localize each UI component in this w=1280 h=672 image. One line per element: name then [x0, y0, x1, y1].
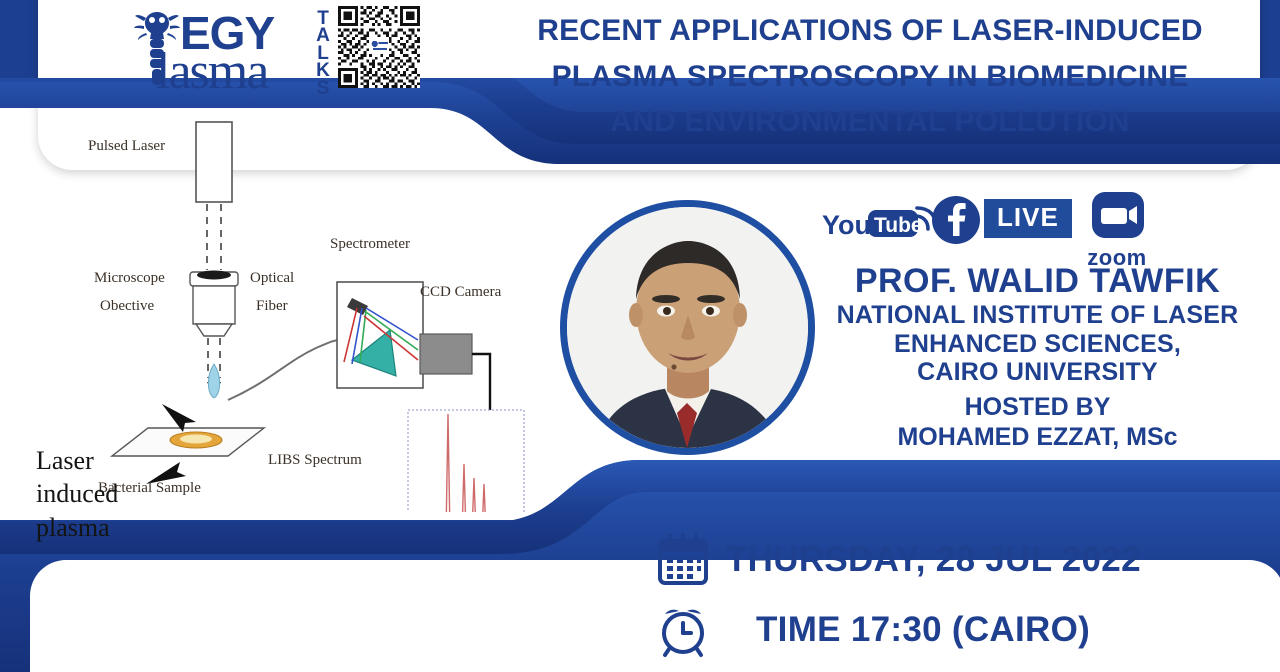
label-laser-induced-plasma: Laser induced plasma — [36, 444, 118, 544]
title-line-1: RECENT APPLICATIONS OF LASER-INDUCED — [470, 8, 1270, 54]
live-badge: LIVE — [984, 199, 1072, 238]
schedule-block: THURSDAY, 28 JUL 2022 TIME 17:30 (CAIRO) — [640, 525, 1280, 665]
youtube-logo: You Tube — [822, 202, 934, 254]
speaker-avatar — [560, 200, 815, 455]
label-libs-spectrum: LIBS Spectrum — [268, 452, 362, 469]
label-spectrometer: Spectrometer — [330, 236, 410, 253]
alarm-clock-icon — [640, 602, 726, 658]
schedule-time-row: TIME 17:30 (CAIRO) — [640, 595, 1280, 665]
hosted-by-label: HOSTED BY — [800, 393, 1275, 422]
calendar-glyph — [655, 532, 711, 588]
libs-setup-diagram: Pulsed Laser Microscope Obective Optical… — [0, 112, 540, 512]
svg-text:You: You — [822, 210, 871, 240]
label-ccd-camera: CCD Camera — [420, 284, 501, 301]
talks-letter: S — [317, 80, 330, 97]
label-optical-fiber-line2: Fiber — [256, 298, 288, 315]
plasma-line-3: plasma — [36, 511, 118, 544]
label-optical-fiber-line1: Optical — [250, 270, 294, 287]
title-line-2: PLASMA SPECTROSCOPY IN BIOMEDICINE — [470, 54, 1270, 100]
plasma-line-1: Laser — [36, 444, 118, 477]
webinar-poster: EGY lasma T A L K S — [0, 0, 1280, 672]
affiliation-line-3: CAIRO UNIVERSITY — [800, 358, 1275, 386]
host-name: MOHAMED EZZAT, MSc — [800, 422, 1275, 452]
broadcast-channels: You Tube LIVE zoom — [812, 190, 1172, 262]
schedule-date: THURSDAY, 28 JUL 2022 — [726, 540, 1141, 580]
zoom-logo — [1084, 190, 1150, 242]
brand-logo[interactable]: EGY lasma T A L K S — [132, 4, 332, 100]
speaker-name: PROF. WALID TAWFIK — [800, 262, 1275, 301]
label-microscope: Microscope — [94, 270, 165, 287]
page-title: RECENT APPLICATIONS OF LASER-INDUCED PLA… — [470, 8, 1270, 145]
facebook-icon[interactable] — [930, 194, 982, 251]
speaker-details: PROF. WALID TAWFIK NATIONAL INSTITUTE OF… — [800, 262, 1275, 452]
title-line-3: AND ENVIRONMENTAL POLLUTION — [470, 99, 1270, 145]
label-pulsed-laser: Pulsed Laser — [88, 138, 165, 155]
logo-talks-text: T A L K S — [310, 10, 336, 97]
plasma-line-2: induced — [36, 477, 118, 510]
alarm-clock-glyph — [655, 602, 711, 658]
affiliation-line-1: NATIONAL INSTITUTE OF LASER — [800, 301, 1275, 329]
schedule-date-row: THURSDAY, 28 JUL 2022 — [640, 525, 1280, 595]
speaker-photo — [567, 207, 808, 448]
affiliation-line-2: ENHANCED SCIENCES, — [800, 330, 1275, 358]
logo-plasma-text: lasma — [156, 42, 267, 101]
calendar-icon — [640, 532, 726, 588]
youtube-icon[interactable]: You Tube — [822, 202, 934, 259]
qr-code[interactable] — [338, 6, 420, 88]
facebook-logo — [930, 194, 982, 246]
schedule-time: TIME 17:30 (CAIRO) — [726, 610, 1090, 650]
label-objective: Obective — [100, 298, 154, 315]
zoom-icon[interactable]: zoom — [1084, 190, 1150, 271]
